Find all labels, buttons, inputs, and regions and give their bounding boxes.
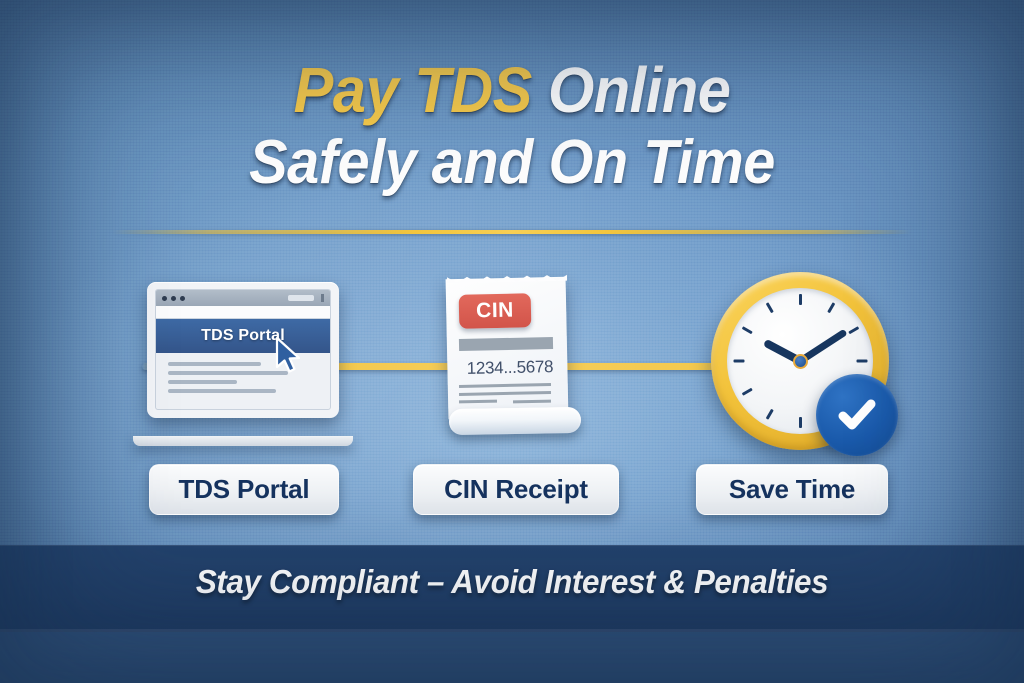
footer-text: Stay Compliant – Avoid Interest & Penalt… [26,563,999,601]
title-line-1-rest: Online [548,54,730,126]
footer-lower-strip [0,632,1024,683]
content-line [168,362,261,366]
gold-divider [112,230,912,234]
clock-tick [741,388,752,396]
window-dot-icon [162,296,167,301]
laptop-base [133,436,353,446]
step-icon-save-time [711,272,889,450]
title-highlight: Pay TDS [294,54,532,126]
cin-badge: CIN [459,293,532,329]
window-dot-icon [171,296,176,301]
clock-tick [827,302,835,313]
title-line-2: Safely and On Time [36,132,988,194]
check-glyph-icon [831,389,883,441]
receipt-number: 1234...5678 [455,357,565,379]
toolbar-divider-icon [321,294,324,302]
step-label-text: CIN Receipt [444,474,588,505]
receipt-gray-bar [459,337,553,351]
clock-tick [799,294,802,305]
content-line [168,389,276,393]
step-label-tds-portal[interactable]: TDS Portal [149,464,339,515]
browser-chrome [156,290,330,306]
check-circle-icon [816,374,898,456]
clock-tick [765,302,773,313]
clock-tick [799,417,802,428]
clock-center-hub [793,354,808,369]
portal-banner-label: TDS Portal [201,327,285,345]
step-labels-row: TDS Portal CIN Receipt Save Time [0,464,1024,518]
footer-banner: Stay Compliant – Avoid Interest & Penalt… [0,545,1024,683]
step-label-text: Save Time [729,474,855,505]
clock-tick [733,360,744,363]
content-line [168,371,288,375]
step-label-save-time[interactable]: Save Time [696,464,888,515]
title-block: Pay TDS Online Safely and On Time [0,58,1024,194]
receipt-curl [449,407,581,435]
step-icon-cin-receipt: CIN 1234...5678 [447,262,579,452]
step-icon-tds-portal: TDS Portal [133,282,353,452]
laptop-lid: TDS Portal [147,282,339,418]
step-label-text: TDS Portal [179,474,310,505]
clock-tick [856,360,867,363]
step-label-cin-receipt[interactable]: CIN Receipt [413,464,619,515]
steps-icon-row: TDS Portal [0,262,1024,452]
window-dot-icon [180,296,185,301]
title-line-1: Pay TDS Online [36,58,988,122]
browser-url-bar [156,306,330,319]
mouse-cursor-icon [274,336,304,374]
infographic-canvas: Pay TDS Online Safely and On Time [0,0,1024,683]
clock-tick [765,409,773,420]
clock-tick [741,326,752,334]
laptop-screen: TDS Portal [155,289,331,410]
clock-tick [848,326,859,334]
content-line [168,380,237,384]
cin-badge-label: CIN [476,299,514,324]
toolbar-button-icon [288,295,314,301]
